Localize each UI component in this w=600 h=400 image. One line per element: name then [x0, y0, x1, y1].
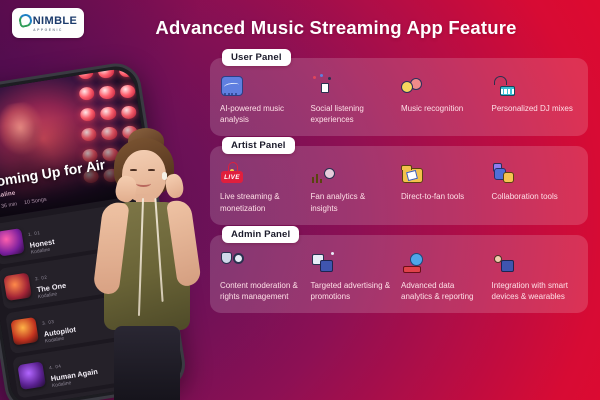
targeted-ads-icon — [311, 251, 335, 275]
device-integration-icon — [492, 251, 516, 275]
eye-left — [130, 169, 137, 171]
feature-item[interactable]: Music recognition — [401, 74, 488, 125]
panel-artist: Artist Panel LIVE Live streaming & monet… — [210, 146, 588, 224]
feature-label: Social listening experiences — [311, 103, 398, 125]
feature-label: AI-powered music analysis — [220, 103, 307, 125]
panel-label: User Panel — [222, 49, 291, 66]
track-artwork — [3, 272, 32, 301]
shield-gear-icon — [220, 251, 244, 275]
hand-right — [164, 173, 185, 200]
brand-logo: NIMBLE APPGENIC — [12, 8, 84, 38]
track-index: 4. 04 — [49, 363, 62, 370]
collaboration-nodes-icon — [492, 162, 516, 186]
feature-item[interactable]: Advanced data analytics & reporting — [401, 251, 488, 302]
live-broadcast-icon: LIVE — [220, 162, 244, 186]
analytics-chart-icon — [311, 162, 335, 186]
panel-user: User Panel AI-powered music analysis Soc… — [210, 58, 588, 136]
panel-label: Admin Panel — [222, 226, 299, 243]
earbud-icon — [162, 172, 167, 180]
feature-label: Personalized DJ mixes — [492, 103, 579, 114]
feature-item[interactable]: Direct-to-fan tools — [401, 162, 488, 213]
brand-name: NIMBLE — [33, 15, 78, 27]
track-index: 1. 01 — [28, 230, 41, 237]
legs — [114, 326, 180, 400]
folder-delivery-icon — [401, 162, 425, 186]
feature-item[interactable]: LIVE Live streaming & monetization — [220, 162, 307, 213]
feature-label: Targeted advertising & promotions — [311, 280, 398, 302]
brand-tagline: APPGENIC — [33, 28, 63, 32]
feature-label: Collaboration tools — [492, 191, 579, 202]
ai-waveform-icon — [220, 74, 244, 98]
feature-label: Content moderation & rights management — [220, 280, 307, 302]
smile — [136, 180, 151, 187]
social-share-icon — [311, 74, 335, 98]
track-artwork — [17, 361, 46, 390]
feature-item[interactable]: Social listening experiences — [311, 74, 398, 125]
nimble-leaf-logo-icon — [17, 13, 32, 28]
feature-item[interactable]: AI-powered music analysis — [220, 74, 307, 125]
track-artwork — [0, 228, 25, 257]
track-artwork — [10, 317, 39, 346]
data-globe-icon — [401, 251, 425, 275]
feature-label: Music recognition — [401, 103, 488, 114]
feature-label: Fan analytics & insights — [311, 191, 398, 213]
panel-label: Artist Panel — [222, 137, 295, 154]
feature-label: Integration with smart devices & wearabl… — [492, 280, 579, 302]
feature-item[interactable]: Integration with smart devices & wearabl… — [492, 251, 579, 302]
feature-item[interactable]: Targeted advertising & promotions — [311, 251, 398, 302]
feature-item[interactable]: Personalized DJ mixes — [492, 74, 579, 125]
feature-label: Advanced data analytics & reporting — [401, 280, 488, 302]
track-index: 3. 03 — [42, 319, 55, 326]
music-recognition-icon — [401, 74, 425, 98]
feature-label: Direct-to-fan tools — [401, 191, 488, 202]
dj-mixer-icon — [492, 74, 516, 98]
feature-item[interactable]: Collaboration tools — [492, 162, 579, 213]
page-title: Advanced Music Streaming App Feature — [136, 17, 536, 39]
feature-item[interactable]: Fan analytics & insights — [311, 162, 398, 213]
feature-item[interactable]: Content moderation & rights management — [220, 251, 307, 302]
listener-photo — [88, 128, 206, 400]
feature-label: Live streaming & monetization — [220, 191, 307, 213]
eye-right — [148, 169, 155, 171]
panel-admin: Admin Panel Content moderation & rights … — [210, 235, 588, 313]
feature-panels: User Panel AI-powered music analysis Soc… — [210, 58, 588, 323]
track-index: 2. 02 — [35, 275, 48, 282]
